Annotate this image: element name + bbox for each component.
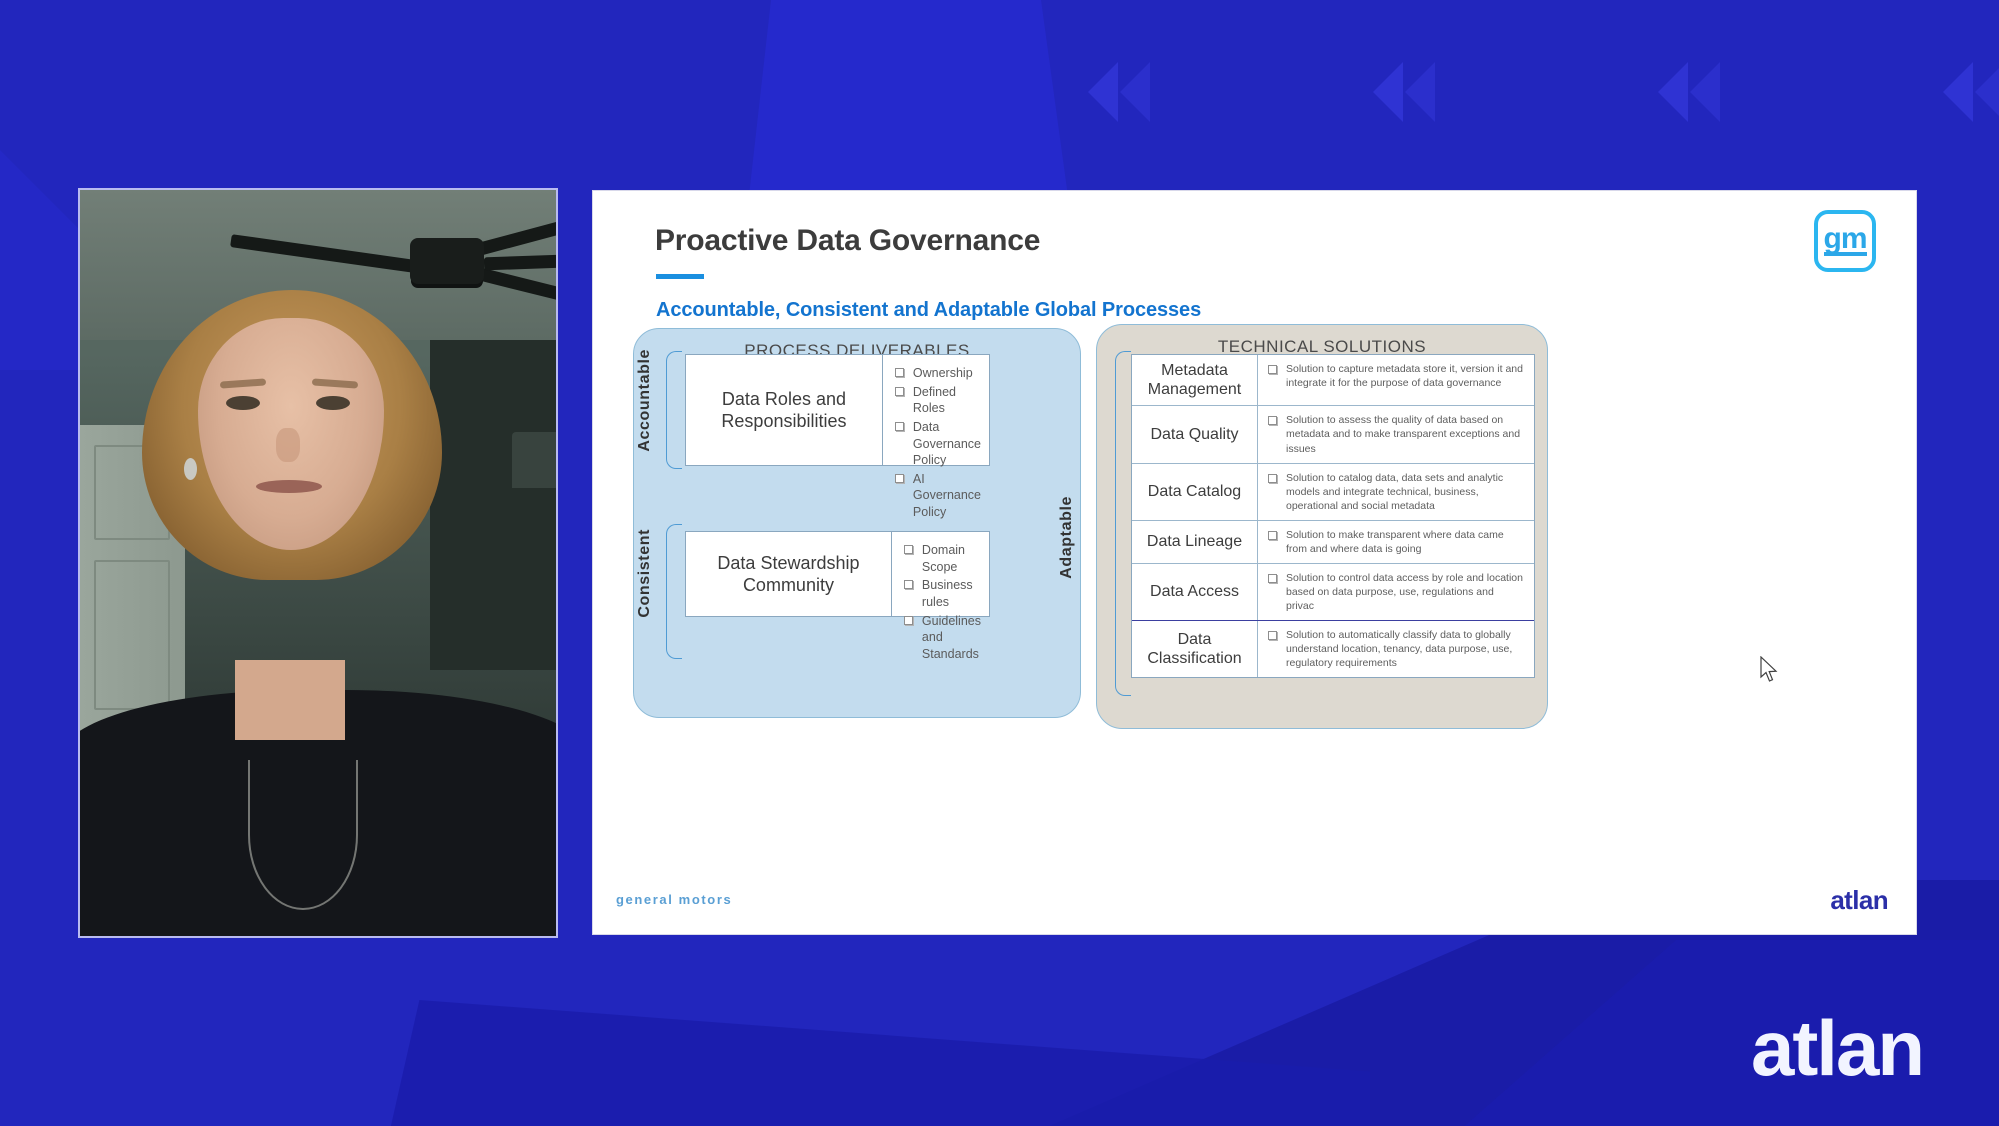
presenter-mouth	[256, 480, 322, 493]
gm-logo: gm	[1814, 210, 1876, 272]
rewind-chevrons-3	[1658, 62, 1720, 122]
chevron-left-icon	[1373, 62, 1403, 122]
checkbox-icon[interactable]	[1268, 474, 1277, 483]
rewind-chevrons-1	[1088, 62, 1150, 122]
slide-footer-gm: general motors	[616, 892, 732, 907]
checkbox-icon[interactable]	[1268, 416, 1277, 425]
table-row[interactable]: Metadata Management Solution to capture …	[1132, 355, 1534, 406]
checkbox-icon[interactable]	[904, 545, 913, 554]
solution-name: Data Access	[1132, 564, 1257, 620]
table-row[interactable]: Data Quality Solution to assess the qual…	[1132, 406, 1534, 463]
list-item: AI Governance Policy	[895, 471, 981, 521]
list-item-label: Ownership	[913, 365, 973, 382]
side-label-consistent: Consistent	[636, 529, 654, 618]
slide-subtitle: Accountable, Consistent and Adaptable Gl…	[656, 299, 1201, 322]
video-dark-wall	[430, 340, 558, 670]
checkbox-icon[interactable]	[1268, 574, 1277, 583]
table-row[interactable]: Data Access Solution to control data acc…	[1132, 564, 1534, 621]
list-item: Defined Roles	[895, 384, 981, 417]
gm-logo-text: gm	[1824, 226, 1867, 257]
page-title: Proactive Data Governance	[655, 224, 1040, 258]
chevron-left-icon	[1405, 62, 1435, 122]
brace-accountable	[666, 351, 682, 469]
checkbox-icon[interactable]	[1268, 531, 1277, 540]
chevron-left-icon	[1943, 62, 1973, 122]
chevron-left-icon	[1690, 62, 1720, 122]
list-item: Ownership	[895, 365, 981, 382]
technical-solutions-table: Metadata Management Solution to capture …	[1131, 354, 1535, 678]
ceiling-fan-blade	[484, 255, 558, 271]
presentation-slide[interactable]: Proactive Data Governance Accountable, C…	[592, 190, 1917, 935]
table-row[interactable]: Data Catalog Solution to catalog data, d…	[1132, 464, 1534, 521]
list-item: Domain Scope	[904, 542, 981, 575]
solution-description: Solution to control data access by role …	[1286, 571, 1524, 613]
solution-description: Solution to make transparent where data …	[1286, 528, 1524, 556]
solution-description: Solution to assess the quality of data b…	[1286, 413, 1524, 455]
chevron-left-icon	[1975, 62, 1999, 122]
presenter-earring	[184, 458, 197, 480]
presenter-necklace	[248, 760, 358, 910]
chevron-left-icon	[1658, 62, 1688, 122]
checkbox-icon[interactable]	[895, 474, 904, 483]
presenter-video-tile[interactable]	[78, 188, 558, 938]
card-title: Data Roles and Responsibilities	[686, 355, 882, 465]
checkbox-icon[interactable]	[895, 368, 904, 377]
solution-description: Solution to catalog data, data sets and …	[1286, 471, 1524, 513]
chevron-left-icon	[1088, 62, 1118, 122]
checkbox-icon[interactable]	[904, 580, 913, 589]
checkbox-icon[interactable]	[1268, 365, 1277, 374]
list-item-label: Domain Scope	[922, 542, 981, 575]
checkbox-icon[interactable]	[895, 387, 904, 396]
presenter-nose	[276, 428, 300, 462]
side-label-accountable: Accountable	[636, 349, 654, 452]
card-checklist: Ownership Defined Roles Data Governance …	[882, 355, 989, 465]
solution-name: Data Classification	[1132, 621, 1257, 677]
brace-adaptable	[1115, 351, 1131, 696]
solution-description-cell: Solution to automatically classify data …	[1257, 621, 1534, 677]
solution-name: Metadata Management	[1132, 355, 1257, 405]
title-underline-rule	[656, 274, 704, 279]
presenter-neck	[235, 660, 345, 740]
list-item: Data Governance Policy	[895, 419, 981, 469]
deliverable-card-roles[interactable]: Data Roles and Responsibilities Ownershi…	[685, 354, 990, 466]
video-lamp	[512, 432, 558, 488]
list-item-label: Defined Roles	[913, 384, 981, 417]
card-title: Data Stewardship Community	[686, 532, 891, 616]
atlan-watermark: atlan	[1751, 1003, 1923, 1094]
solution-description-cell: Solution to control data access by role …	[1257, 564, 1534, 620]
solution-description-cell: Solution to make transparent where data …	[1257, 521, 1534, 563]
chevron-left-icon	[1120, 62, 1150, 122]
ceiling-fan-hub	[410, 238, 484, 284]
rewind-chevrons-2	[1373, 62, 1435, 122]
list-item: Business rules	[904, 577, 981, 610]
presenter-eye	[226, 396, 260, 410]
checkbox-icon[interactable]	[895, 422, 904, 431]
solution-description-cell: Solution to catalog data, data sets and …	[1257, 464, 1534, 520]
deliverable-card-stewardship[interactable]: Data Stewardship Community Domain Scope …	[685, 531, 990, 617]
solution-description-cell: Solution to capture metadata store it, v…	[1257, 355, 1534, 405]
list-item-label: AI Governance Policy	[913, 471, 981, 521]
list-item-label: Business rules	[922, 577, 981, 610]
rewind-chevrons-4	[1943, 62, 1999, 122]
table-row[interactable]: Data Lineage Solution to make transparen…	[1132, 521, 1534, 564]
checkbox-icon[interactable]	[1268, 631, 1277, 640]
background-shape-3	[390, 1000, 1370, 1126]
video-door-panel	[94, 560, 170, 710]
solution-description: Solution to automatically classify data …	[1286, 628, 1524, 670]
list-item-label: Data Governance Policy	[913, 419, 981, 469]
side-label-adaptable: Adaptable	[1058, 496, 1076, 579]
list-item: Guidelines and Standards	[904, 613, 981, 663]
brace-consistent	[666, 524, 682, 659]
card-checklist: Domain Scope Business rules Guidelines a…	[891, 532, 989, 616]
solution-name: Data Catalog	[1132, 464, 1257, 520]
solution-description-cell: Solution to assess the quality of data b…	[1257, 406, 1534, 462]
presenter-eye	[316, 396, 350, 410]
checkbox-icon[interactable]	[904, 616, 913, 625]
slide-footer-atlan: atlan	[1830, 885, 1888, 916]
table-row[interactable]: Data Classification Solution to automati…	[1132, 621, 1534, 677]
solution-name: Data Lineage	[1132, 521, 1257, 563]
list-item-label: Guidelines and Standards	[922, 613, 981, 663]
solution-description: Solution to capture metadata store it, v…	[1286, 362, 1524, 398]
solution-name: Data Quality	[1132, 406, 1257, 462]
